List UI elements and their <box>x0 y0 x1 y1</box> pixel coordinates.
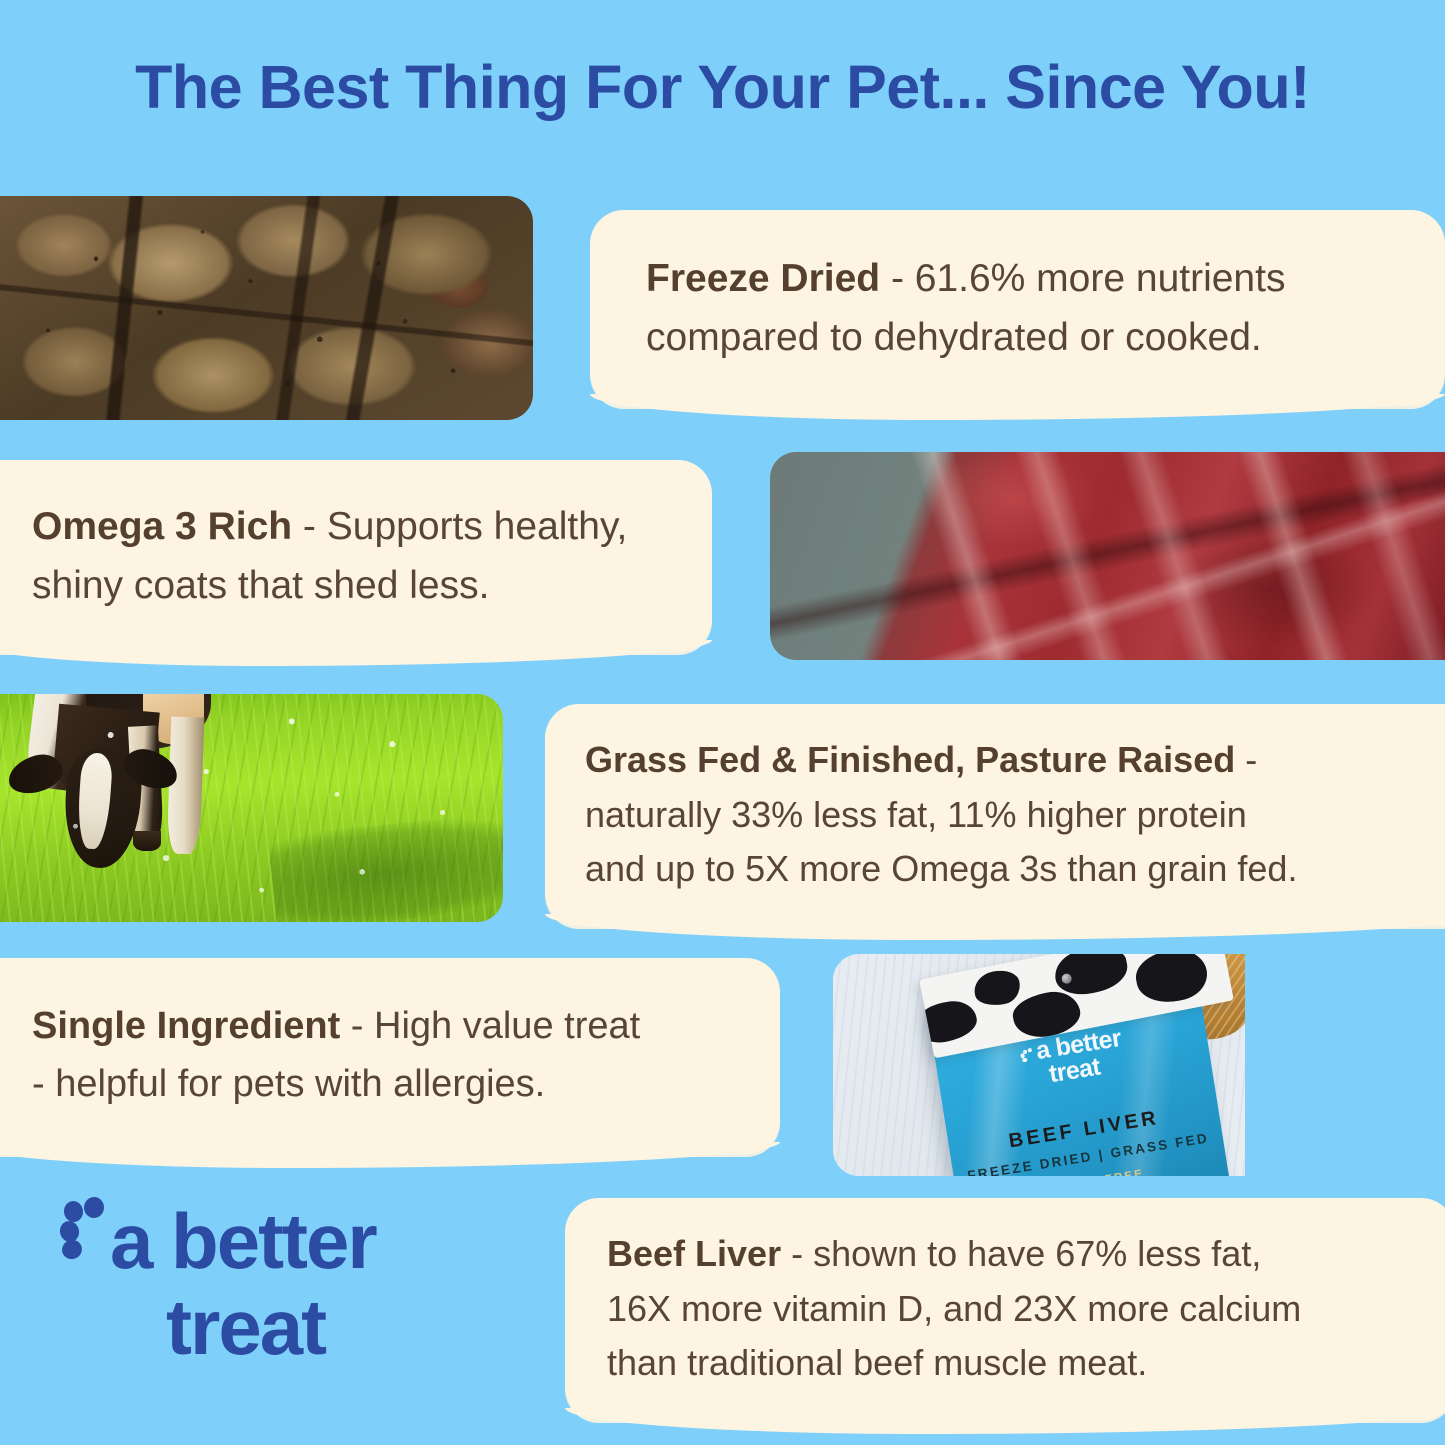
card-wave-edge <box>545 914 1445 940</box>
photo-grazing-cow <box>0 694 503 922</box>
card-freeze-dried-line2: compared to dehydrated or cooked. <box>646 308 1389 367</box>
card-wave-edge <box>590 394 1445 420</box>
card-omega-3-rich: Omega 3 Rich - Supports healthy, shiny c… <box>0 460 712 652</box>
card-single-ingredient: Single Ingredient - High value treat - h… <box>0 958 780 1154</box>
beef-grain-texture <box>770 452 1445 660</box>
brand-line-2: treat <box>58 1284 325 1370</box>
card-wave-edge <box>0 640 712 666</box>
card-beef-liver-line1-rest: - shown to have 67% less fat, <box>781 1233 1261 1274</box>
brand-logo-row2: treat <box>58 1284 488 1370</box>
card-single-ingredient-line1-rest: - High value treat <box>340 1005 640 1047</box>
cow-spot <box>1132 954 1211 1008</box>
clover-flowers <box>0 694 503 922</box>
card-freeze-dried: Freeze Dried - 61.6% more nutrients comp… <box>590 210 1445 406</box>
card-beef-liver-lead: Beef Liver <box>607 1233 781 1274</box>
infographic-root: The Best Thing For Your Pet... Since You… <box>0 0 1445 1445</box>
card-single-ingredient-line1: Single Ingredient - High value treat <box>32 998 708 1056</box>
card-grass-fed-line2: naturally 33% less fat, 11% higher prote… <box>585 788 1445 843</box>
photo-raw-beef <box>770 452 1445 660</box>
card-single-ingredient-lead: Single Ingredient <box>32 1005 340 1047</box>
card-freeze-dried-line1: Freeze Dried - 61.6% more nutrients <box>646 249 1389 308</box>
card-beef-liver-line2: 16X more vitamin D, and 23X more calcium <box>607 1282 1413 1337</box>
brand-logo: a better treat <box>58 1198 488 1370</box>
card-grass-fed-line1: Grass Fed & Finished, Pasture Raised - <box>585 733 1445 788</box>
photo-freeze-dried-liver <box>0 196 533 420</box>
card-wave-edge <box>0 1142 780 1168</box>
paw-icon <box>1020 1048 1035 1063</box>
photo-product-package: a better treat BEEF LIVER FREEZE DRIED |… <box>833 954 1245 1176</box>
cow-spot <box>971 967 1022 1009</box>
page-title: The Best Thing For Your Pet... Since You… <box>0 52 1445 122</box>
card-beef-liver-line1: Beef Liver - shown to have 67% less fat, <box>607 1227 1413 1282</box>
liver-speckle-texture <box>0 196 533 420</box>
card-grass-fed-lead: Grass Fed & Finished, Pasture Raised <box>585 739 1235 780</box>
card-grass-fed-line1-rest: - <box>1235 739 1257 780</box>
card-beef-liver-line3: than traditional beef muscle meat. <box>607 1336 1413 1391</box>
card-grass-fed: Grass Fed & Finished, Pasture Raised - n… <box>545 704 1445 926</box>
card-omega-3-line2: shiny coats that shed less. <box>32 556 640 615</box>
card-omega-3-line1-rest: - Supports healthy, <box>292 505 627 548</box>
card-omega-3-lead: Omega 3 Rich <box>32 505 292 548</box>
card-single-ingredient-line2: - helpful for pets with allergies. <box>32 1056 708 1114</box>
brand-logo-row1: a better <box>58 1198 488 1284</box>
card-grass-fed-line3: and up to 5X more Omega 3s than grain fe… <box>585 842 1445 897</box>
paw-icon <box>60 1200 116 1252</box>
card-wave-edge <box>565 1408 1445 1434</box>
card-omega-3-line1: Omega 3 Rich - Supports healthy, <box>32 497 640 556</box>
card-freeze-dried-lead: Freeze Dried <box>646 257 880 300</box>
card-freeze-dried-line1-rest: - 61.6% more nutrients <box>880 257 1285 300</box>
card-beef-liver: Beef Liver - shown to have 67% less fat,… <box>565 1198 1445 1420</box>
